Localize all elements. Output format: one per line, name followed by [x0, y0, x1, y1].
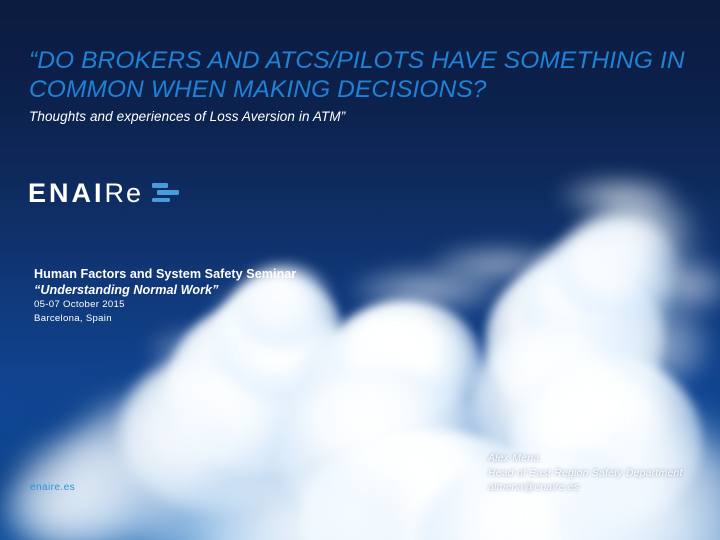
- cloud-wisp: [432, 246, 562, 282]
- seminar-dates: 05-07 October 2015: [34, 298, 364, 312]
- seminar-name: Human Factors and System Safety Seminar: [34, 266, 364, 282]
- cloud-puff: [588, 196, 696, 284]
- seminar-theme: “Understanding Normal Work”: [34, 282, 364, 298]
- presentation-slide: “DO BROKERS AND ATCS/PILOTS HAVE SOMETHI…: [0, 0, 720, 540]
- slide-title-block: “DO BROKERS AND ATCS/PILOTS HAVE SOMETHI…: [29, 46, 689, 127]
- author-role: Head of East Region Safety Department: [488, 467, 708, 482]
- seminar-info-block: Human Factors and System Safety Seminar …: [34, 266, 364, 325]
- cloud-wisp: [560, 176, 672, 216]
- cloud-wisp: [0, 470, 120, 540]
- cloud-wisp: [150, 330, 260, 370]
- cloud-puff: [276, 368, 486, 528]
- cloud-puff: [520, 238, 670, 366]
- cloud-puff: [486, 260, 664, 420]
- cloud-wisp: [640, 258, 720, 314]
- author-block: Alex Mena Head of East Region Safety Dep…: [488, 452, 708, 496]
- author-name: Alex Mena: [488, 452, 708, 467]
- title-line-2: COMMON WHEN MAKING DECISIONS?: [29, 75, 689, 104]
- logo-bar-middle: [157, 190, 179, 195]
- enaire-bars-mark-icon: [152, 182, 179, 204]
- logo-wordmark-bold: ENAI: [28, 180, 105, 207]
- cloud-wisp: [600, 300, 710, 390]
- title-line-1: “DO BROKERS AND ATCS/PILOTS HAVE SOMETHI…: [29, 46, 689, 75]
- cloud-puff: [556, 216, 678, 320]
- cloud-puff: [60, 398, 250, 540]
- logo-wordmark-light: Re: [105, 180, 144, 207]
- seminar-location: Barcelona, Spain: [34, 312, 364, 326]
- title-subtitle: Thoughts and experiences of Loss Aversio…: [29, 107, 689, 127]
- cloud-puff: [120, 352, 310, 512]
- cloud-puff: [168, 300, 358, 475]
- cloud-wisp: [352, 268, 502, 312]
- logo-bar-bottom: [152, 198, 170, 203]
- cloud-base-mass: [150, 350, 720, 540]
- cloud-puff: [512, 356, 702, 526]
- cloud-puff: [190, 462, 420, 540]
- enaire-logo: ENAI Re: [28, 176, 179, 210]
- cloud-puff: [300, 316, 490, 466]
- logo-bar-top: [152, 183, 168, 188]
- website-footer[interactable]: enaire.es: [30, 482, 75, 493]
- author-email[interactable]: almena@enaire.es: [488, 481, 708, 496]
